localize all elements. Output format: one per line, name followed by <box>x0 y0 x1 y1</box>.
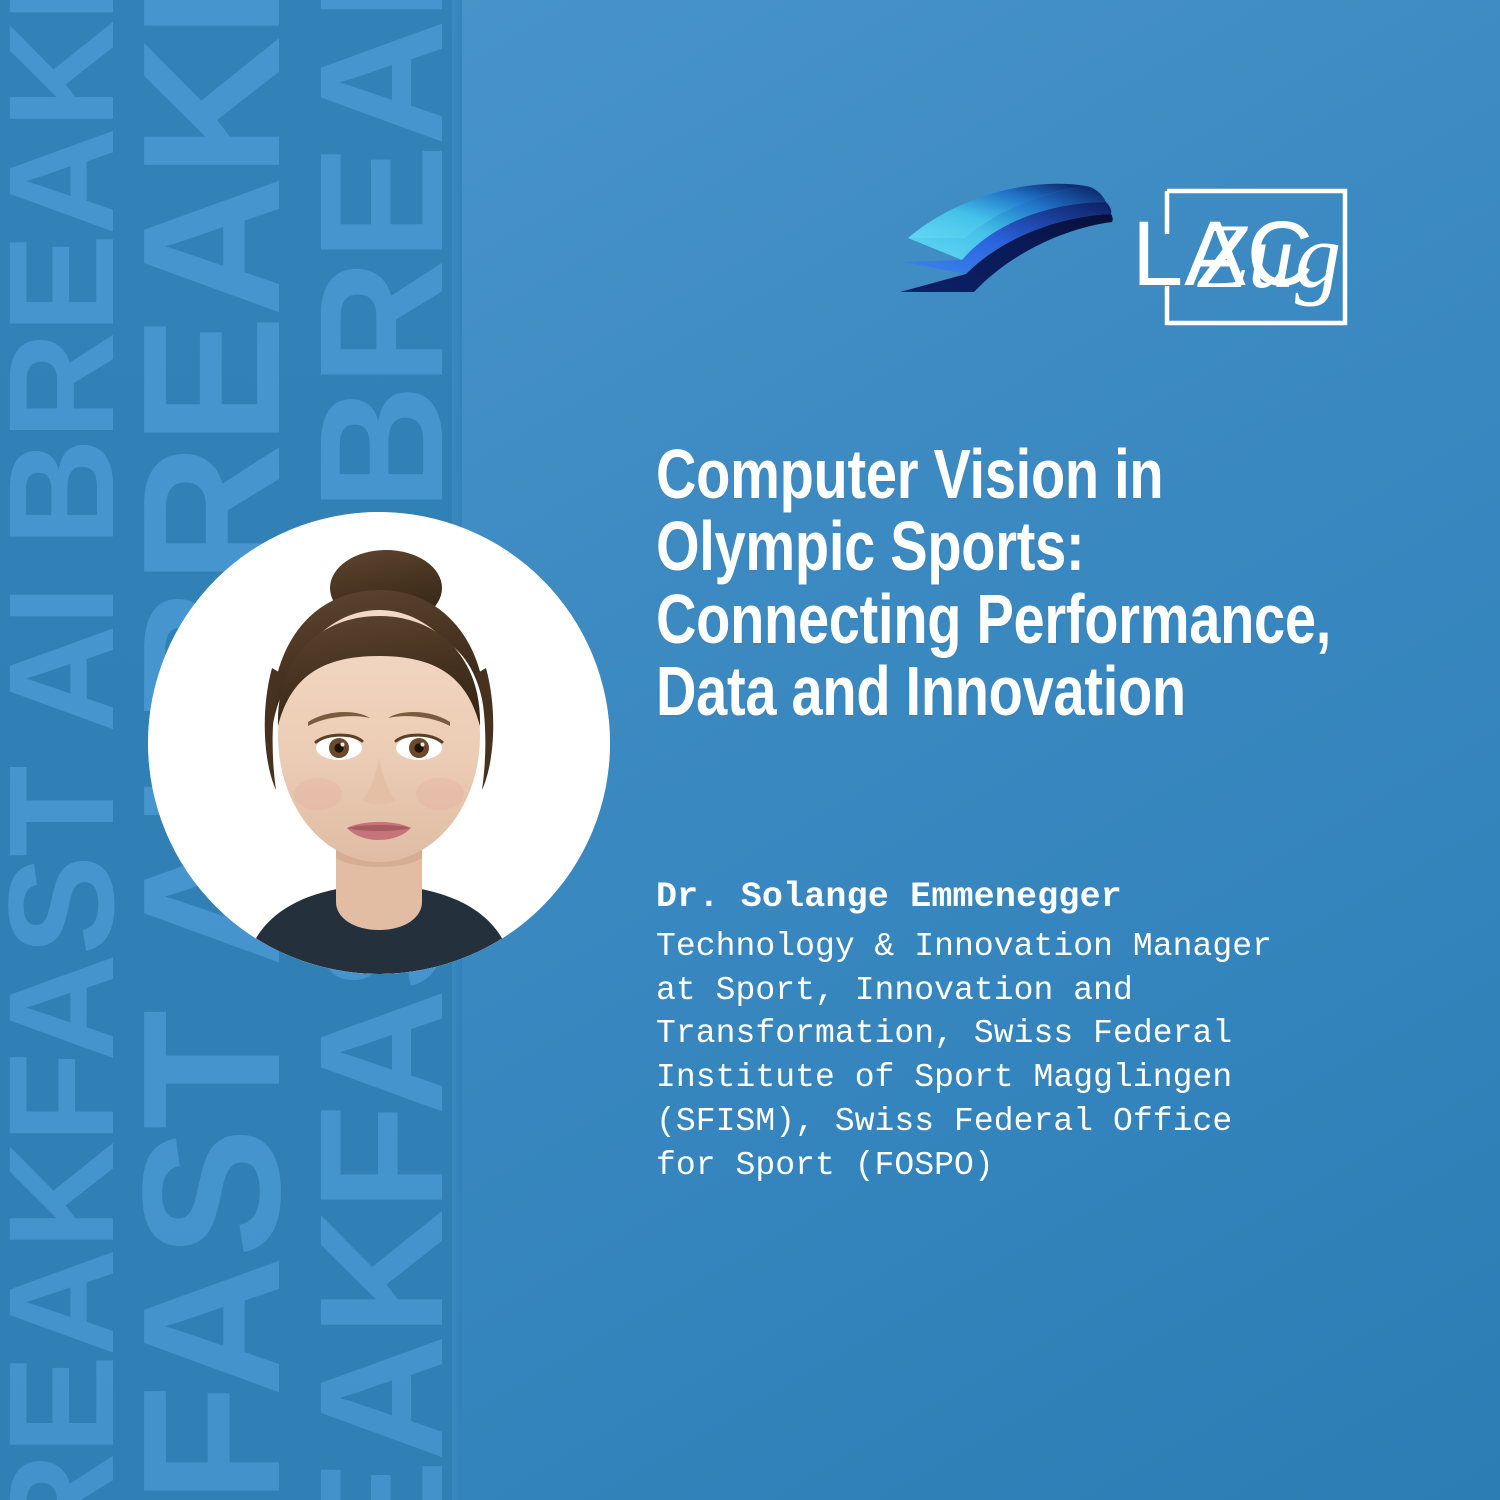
title-line: Connecting Performance, <box>656 580 1331 658</box>
title-line: Computer Vision in <box>656 435 1163 513</box>
title-line: Data and Innovation <box>656 652 1186 730</box>
speaker-name: Dr. Solange Emmenegger <box>656 876 1456 919</box>
lac-zug-logo: LAC Zug <box>900 180 1350 340</box>
title-line: Olympic Sports: <box>656 507 1084 585</box>
speaker-info: Dr. Solange Emmenegger Technology & Inno… <box>656 876 1456 1188</box>
page-title: Computer Vision inOlympic Sports:Connect… <box>656 438 1448 728</box>
speaker-role: Technology & Innovation Manager at Sport… <box>656 925 1456 1188</box>
event-announcement-poster: AI BREAKFAST AI BREAKFAST AI BREAKFAST A… <box>0 0 1500 1500</box>
logo-zug-text: Zug <box>1196 210 1342 302</box>
speaker-portrait-avatar <box>148 512 610 974</box>
pattern-column-1: AI BREAKFAST AI BREAKFAST AI BREAKFAST A… <box>0 0 122 1500</box>
portrait-illustration <box>148 512 610 974</box>
main-content: Computer Vision inOlympic Sports:Connect… <box>656 438 1446 728</box>
swoosh-icon <box>900 180 1115 310</box>
pattern-text-1: AI BREAKFAST AI BREAKFAST AI BREAKFAST A… <box>0 0 122 1500</box>
